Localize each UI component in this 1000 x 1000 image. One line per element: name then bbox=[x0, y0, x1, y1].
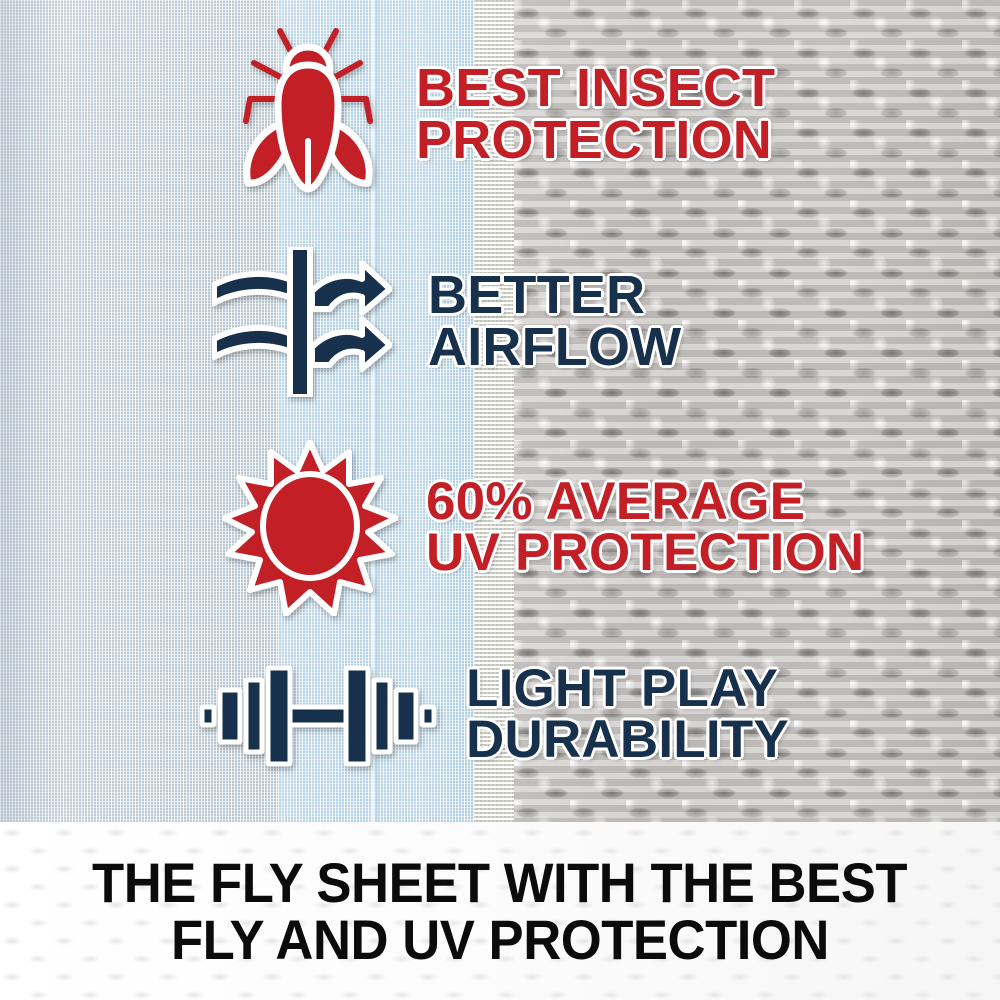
feature-row-uv-protection: 60% AVERAGE UV PROTECTION bbox=[222, 436, 1000, 620]
bottom-banner: THE FLY SHEET WITH THE BEST FLY AND UV P… bbox=[0, 822, 1000, 1000]
banner-line-1: THE FLY SHEET WITH THE BEST bbox=[92, 854, 907, 911]
feature-label-uv-protection: 60% AVERAGE UV PROTECTION bbox=[426, 477, 864, 579]
feature-label-insect-protection: BEST INSECT PROTECTION bbox=[416, 63, 775, 167]
dumbbell-icon bbox=[198, 660, 438, 770]
feature-row-better-airflow: BETTER AIRFLOW bbox=[212, 246, 992, 398]
infographic-image: BEST INSECT PROTECTION BETTER AIRF bbox=[0, 0, 1000, 1000]
sun-icon bbox=[222, 440, 398, 616]
feature-label-better-airflow: BETTER AIRFLOW bbox=[428, 270, 681, 374]
fly-icon bbox=[232, 25, 382, 205]
feature-row-insect-protection: BEST INSECT PROTECTION bbox=[232, 22, 992, 208]
feature-label-durability: LIGHT PLAY DURABILITY bbox=[466, 664, 789, 766]
feature-row-durability: LIGHT PLAY DURABILITY bbox=[198, 652, 978, 778]
airflow-icon bbox=[212, 247, 392, 397]
banner-line-2: FLY AND UV PROTECTION bbox=[171, 911, 829, 968]
